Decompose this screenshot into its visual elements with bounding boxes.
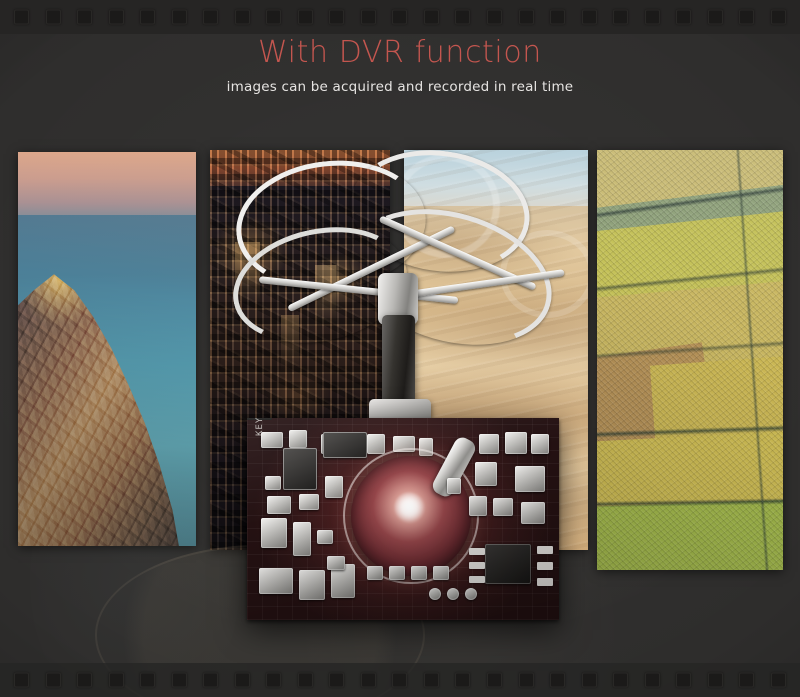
film-perforation — [109, 10, 124, 25]
film-perforation — [771, 673, 786, 688]
film-perforation — [172, 10, 187, 25]
film-perforation — [739, 673, 754, 688]
film-perforation — [582, 673, 597, 688]
pcb-component — [299, 570, 325, 600]
pcb-component — [283, 448, 317, 490]
farmland-shading — [597, 150, 783, 570]
farmland-image — [597, 150, 783, 570]
pcb-component — [259, 568, 293, 594]
pcb-component — [411, 566, 427, 580]
pcb-component — [433, 566, 449, 580]
film-perforation — [771, 10, 786, 25]
film-perforation — [46, 10, 61, 25]
film-perforation — [14, 673, 29, 688]
film-perforation — [424, 673, 439, 688]
film-perforation — [455, 10, 470, 25]
film-perforation — [298, 673, 313, 688]
film-perforation — [613, 10, 628, 25]
film-perforation — [266, 10, 281, 25]
film-perforation — [14, 10, 29, 25]
film-perforation — [203, 10, 218, 25]
pcb-component — [475, 462, 497, 486]
page-title: With DVR function — [0, 36, 800, 71]
film-perforation — [550, 10, 565, 25]
film-perforation — [645, 10, 660, 25]
film-perforation — [519, 10, 534, 25]
film-perforation — [77, 673, 92, 688]
pcb-component — [327, 556, 345, 570]
pcb-component — [261, 518, 287, 548]
photo-panel-coastal-cliff — [18, 152, 196, 546]
film-perforation — [235, 673, 250, 688]
film-perforation — [455, 673, 470, 688]
pcb-component — [515, 466, 545, 492]
film-perforation — [329, 10, 344, 25]
film-perforation — [109, 673, 124, 688]
pcb-component — [293, 522, 311, 556]
film-perforation — [392, 673, 407, 688]
film-perforation — [739, 10, 754, 25]
drone-body-stem — [382, 315, 415, 407]
film-perforation — [424, 10, 439, 25]
film-perforation — [550, 673, 565, 688]
pcb-component — [447, 588, 459, 600]
pcb-component — [367, 566, 383, 580]
pcb-component — [389, 566, 405, 580]
film-perforation — [140, 10, 155, 25]
film-perforation — [298, 10, 313, 25]
pcb-component — [531, 434, 549, 454]
pcb-component — [447, 478, 461, 494]
camera-module-pcb: KEY — [247, 418, 559, 620]
pcb-component — [317, 530, 333, 544]
film-perforation-strip-bottom — [0, 663, 800, 697]
cliff-shading — [18, 152, 196, 546]
pcb-pad — [537, 578, 553, 586]
pcb-pad — [469, 562, 485, 569]
drone-overlay — [230, 155, 560, 435]
pcb-component — [367, 434, 385, 454]
film-perforation — [487, 673, 502, 688]
film-perforation — [582, 10, 597, 25]
pcb-component — [469, 496, 487, 516]
film-perforation — [613, 673, 628, 688]
film-perforation — [676, 10, 691, 25]
pcb-silkscreen-key-label: KEY — [255, 418, 265, 436]
pcb-pad — [469, 576, 485, 583]
film-perforation — [392, 10, 407, 25]
film-perforation — [487, 10, 502, 25]
pcb-component — [493, 498, 513, 516]
pcb-ic-chip — [485, 544, 531, 584]
pcb-component — [479, 434, 499, 454]
perforation-row-bottom — [0, 673, 800, 688]
film-perforation — [361, 673, 376, 688]
heading-block: With DVR function images can be acquired… — [0, 36, 800, 95]
pcb-component — [299, 494, 319, 510]
pcb-component — [289, 430, 307, 448]
film-perforation — [519, 673, 534, 688]
photo-panel-aerial-farmland — [597, 150, 783, 570]
film-perforation — [46, 673, 61, 688]
cliff-image — [18, 152, 196, 546]
film-perforation — [676, 673, 691, 688]
film-perforation — [645, 673, 660, 688]
pcb-component — [325, 476, 343, 498]
film-perforation — [172, 673, 187, 688]
film-perforation — [708, 673, 723, 688]
page-subtitle: images can be acquired and recorded in r… — [0, 79, 800, 95]
film-perforation — [140, 673, 155, 688]
pcb-component — [521, 502, 545, 524]
film-perforation — [361, 10, 376, 25]
perforation-row-top — [0, 10, 800, 25]
film-perforation — [77, 10, 92, 25]
film-perforation-strip-top — [0, 0, 800, 34]
film-perforation — [203, 673, 218, 688]
pcb-component — [465, 588, 477, 600]
pcb-pad — [537, 562, 553, 570]
pcb-component — [323, 432, 367, 458]
film-perforation — [266, 673, 281, 688]
pcb-component — [505, 432, 527, 454]
pcb-pad — [537, 546, 553, 554]
pcb-component — [267, 496, 291, 514]
pcb-pad — [469, 548, 485, 555]
pcb-component — [429, 588, 441, 600]
film-perforation — [329, 673, 344, 688]
film-perforation — [235, 10, 250, 25]
film-perforation — [708, 10, 723, 25]
pcb-component — [265, 476, 281, 490]
dvr-function-banner: KEY With DVR function images can be acqu… — [0, 0, 800, 697]
